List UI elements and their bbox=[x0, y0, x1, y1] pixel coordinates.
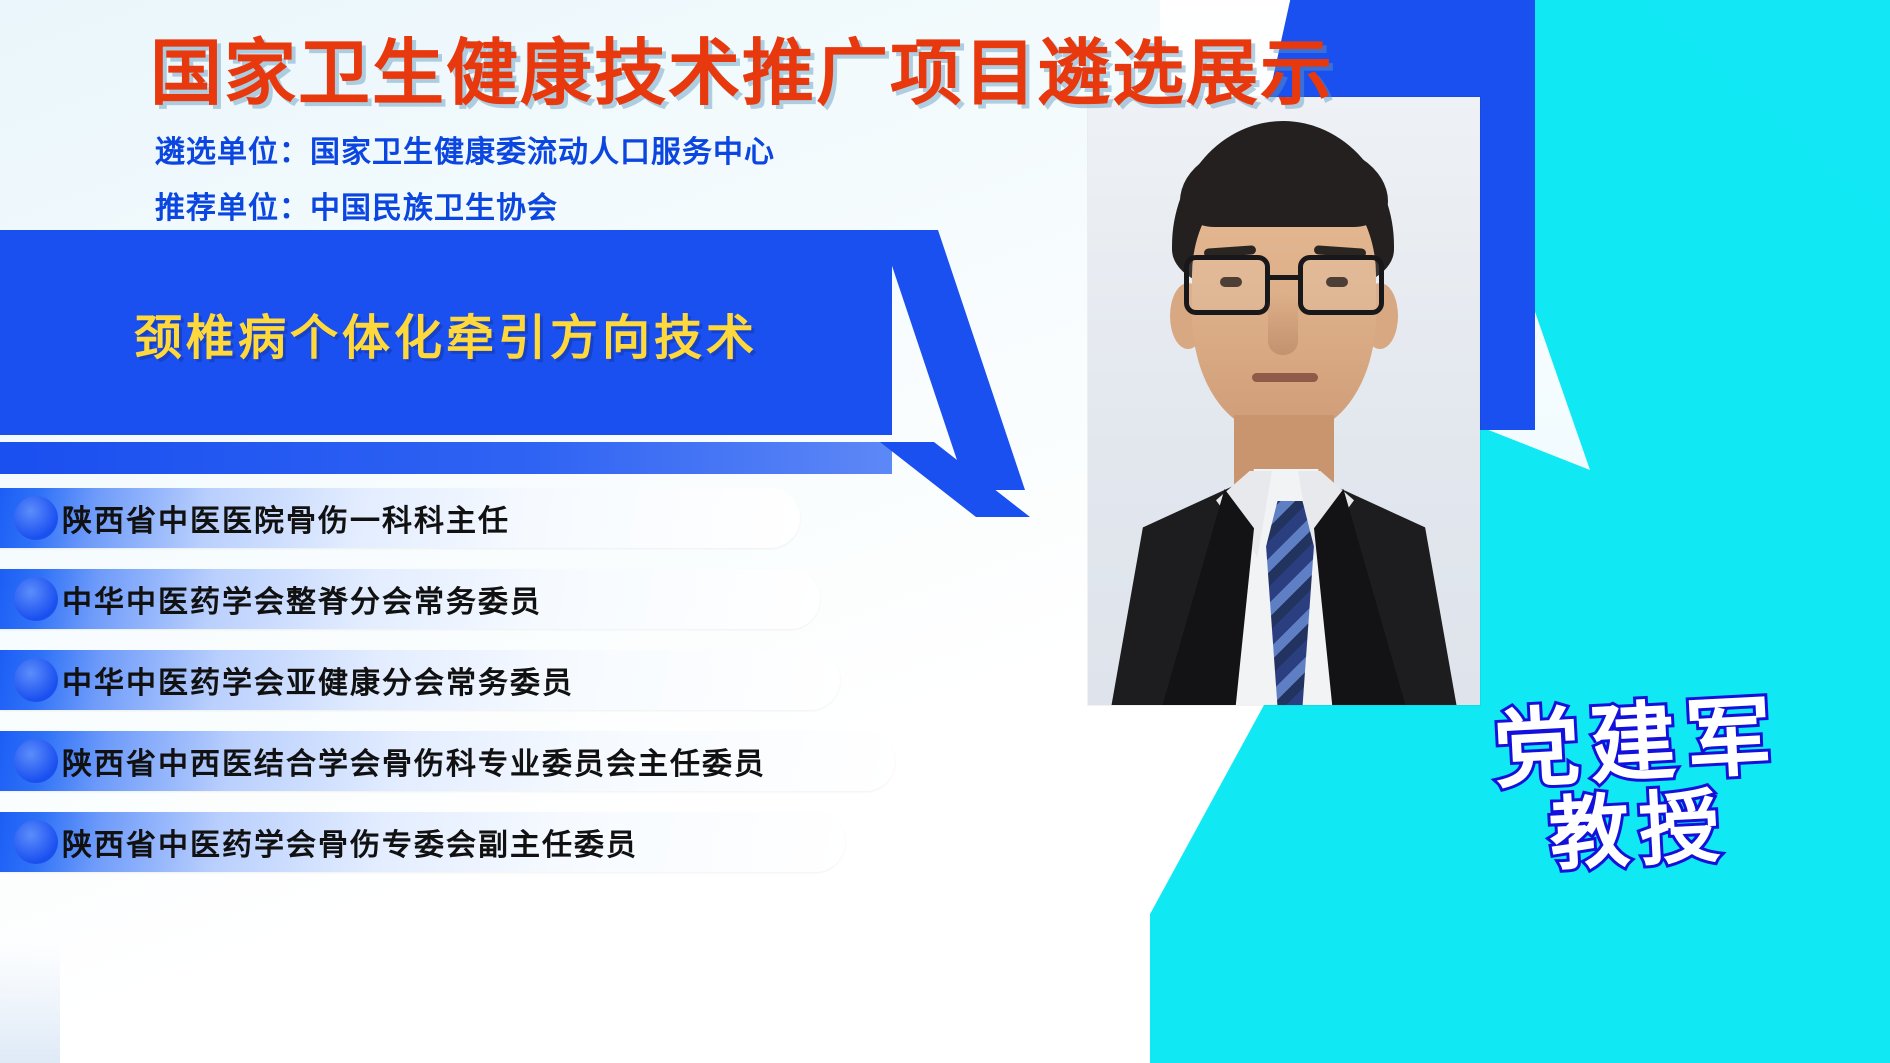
banner-accent-stripe bbox=[0, 442, 892, 474]
credential-text: 陕西省中医医院骨伤一科科主任 bbox=[62, 496, 510, 540]
credential-list: 陕西省中医医院骨伤一科科主任 中华中医药学会整脊分会常务委员 中华中医药学会亚健… bbox=[0, 488, 920, 893]
list-item: 中华中医药学会整脊分会常务委员 bbox=[0, 569, 820, 629]
glasses-bridge bbox=[1270, 275, 1298, 280]
glasses-lens-right bbox=[1298, 255, 1384, 315]
presenter-portrait-photo bbox=[1088, 97, 1480, 705]
list-item: 陕西省中西医结合学会骨伤科专业委员会主任委员 bbox=[0, 731, 895, 791]
technique-banner: 颈椎病个体化牵引方向技术 bbox=[0, 230, 892, 435]
list-item: 陕西省中医药学会骨伤专委会副主任委员 bbox=[0, 812, 845, 872]
credential-text: 陕西省中西医结合学会骨伤科专业委员会主任委员 bbox=[62, 739, 766, 783]
banner-body: 颈椎病个体化牵引方向技术 bbox=[0, 230, 892, 435]
credential-text: 陕西省中医药学会骨伤专委会副主任委员 bbox=[62, 820, 638, 864]
glasses-lens-left bbox=[1184, 255, 1270, 315]
bottom-left-edge-gradient bbox=[0, 943, 60, 1063]
portrait-mouth bbox=[1252, 373, 1318, 382]
credential-text: 中华中医药学会亚健康分会常务委员 bbox=[62, 658, 574, 702]
list-item: 陕西省中医医院骨伤一科科主任 bbox=[0, 488, 800, 548]
list-item: 中华中医药学会亚健康分会常务委员 bbox=[0, 650, 840, 710]
presenter-name-block: 党建军 教授 bbox=[1426, 689, 1854, 882]
technique-title: 颈椎病个体化牵引方向技术 bbox=[0, 230, 892, 435]
page-title: 国家卫生健康技术推广项目遴选展示 bbox=[150, 14, 1450, 119]
recommending-organization-line: 推荐单位：中国民族卫生协会 bbox=[155, 183, 558, 227]
slide-root: 国家卫生健康技术推广项目遴选展示 遴选单位：国家卫生健康委流动人口服务中心 推荐… bbox=[0, 0, 1890, 1063]
portrait-nose bbox=[1268, 293, 1298, 355]
credential-text: 中华中医药学会整脊分会常务委员 bbox=[62, 577, 542, 621]
selection-organization-line: 遴选单位：国家卫生健康委流动人口服务中心 bbox=[155, 127, 775, 171]
